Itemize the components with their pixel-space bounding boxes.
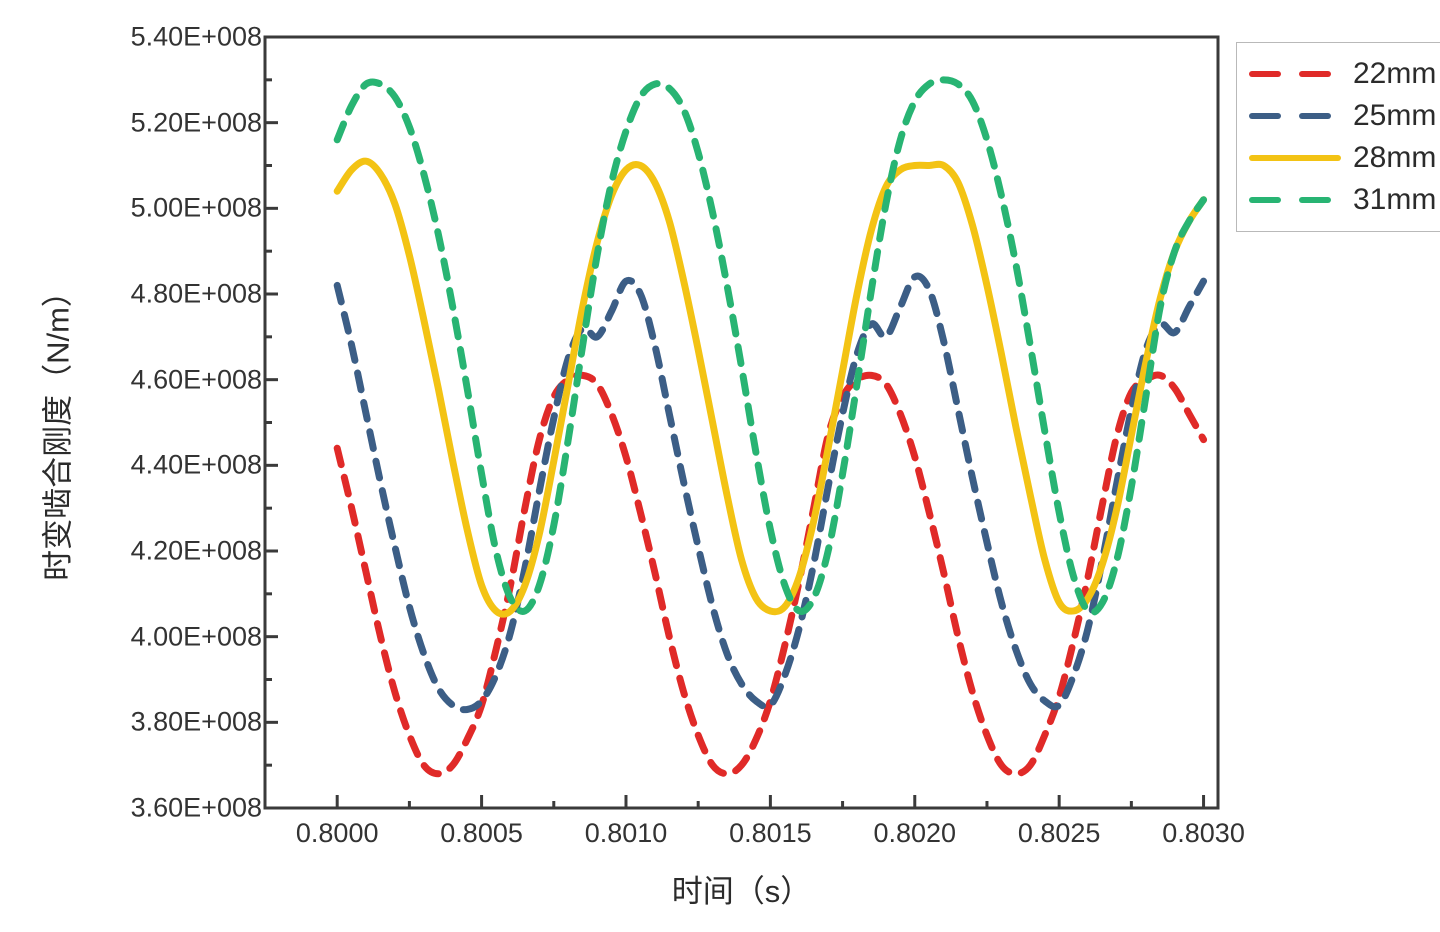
- legend-swatch-icon: [1247, 149, 1343, 167]
- legend-item-31mm[interactable]: 31mm: [1247, 179, 1436, 221]
- legend-item-label: 28mm: [1353, 141, 1436, 175]
- plot-area: [0, 0, 1440, 932]
- legend-swatch-icon: [1247, 107, 1343, 125]
- legend-item-22mm[interactable]: 22mm: [1247, 53, 1436, 95]
- legend-item-label: 25mm: [1353, 99, 1436, 133]
- legend-item-28mm[interactable]: 28mm: [1247, 137, 1436, 179]
- legend-swatch-icon: [1247, 191, 1343, 209]
- legend-item-label: 31mm: [1353, 183, 1436, 217]
- legend-item-label: 22mm: [1353, 57, 1436, 91]
- plot-frame: [265, 37, 1218, 808]
- chart-figure: 时变啮合刚度（N/m） 时间（s） 3.60E+0083.80E+0084.00…: [0, 0, 1440, 932]
- legend-item-25mm[interactable]: 25mm: [1247, 95, 1436, 137]
- legend-swatch-icon: [1247, 65, 1343, 83]
- chart-legend: 22mm25mm28mm31mm: [1236, 42, 1440, 232]
